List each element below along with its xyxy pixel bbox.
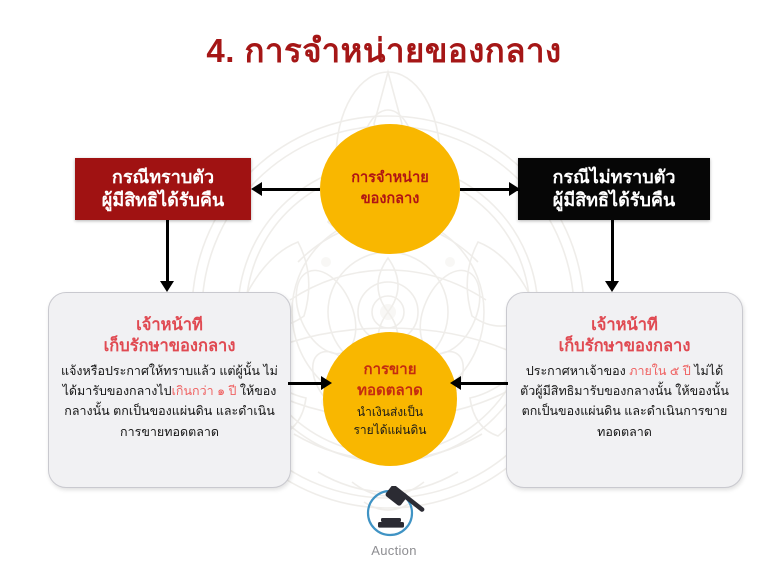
arrow-right-card-to-center-head — [450, 376, 461, 390]
node-branch-known-claimant: กรณีทราบตัว ผู้มีสิทธิได้รับคืน — [75, 158, 251, 220]
page-title: 4. การจำหน่ายของกลาง — [0, 31, 768, 71]
card-right-heading-line1: เจ้าหน้าที — [519, 315, 730, 336]
slide-canvas: 4. การจำหน่ายของกลาง การจำหน่าย ของกลาง … — [0, 0, 768, 576]
node-center-top-disposal: การจำหน่าย ของกลาง — [320, 124, 460, 254]
node-branch-known-line1: กรณีทราบตัว — [112, 166, 214, 189]
card-right-body: ประกาศหาเจ้าของ ภายใน ๕ ปี ไม่ได้ตัวผู้ม… — [519, 361, 730, 442]
arrow-top-to-left-line — [260, 188, 320, 191]
gavel-icon — [358, 486, 430, 542]
card-officer-custody-left: เจ้าหน้าที เก็บรักษาของกลาง แจ้งหรือประก… — [48, 292, 291, 488]
card-left-body: แจ้งหรือประกาศให้ทราบแล้ว แต่ผู้นั้น ไม่… — [61, 361, 278, 442]
node-center-bottom-line2: ทอดตลาด — [357, 380, 423, 401]
node-branch-known-line2: ผู้มีสิทธิได้รับคืน — [102, 189, 224, 212]
card-right-heading-line2: เก็บรักษาของกลาง — [519, 336, 730, 357]
arrow-left-card-to-center-head — [321, 376, 332, 390]
card-officer-custody-right: เจ้าหน้าที เก็บรักษาของกลาง ประกาศหาเจ้า… — [506, 292, 743, 488]
node-center-bottom-sub2: รายได้แผ่นดิน — [353, 422, 426, 439]
arrow-right-down-line — [611, 220, 614, 284]
card-right-body-highlight: ภายใน ๕ ปี — [629, 364, 691, 378]
node-branch-unknown-line2: ผู้มีสิทธิได้รับคืน — [553, 189, 675, 212]
arrow-top-to-left-head — [251, 182, 262, 196]
node-branch-unknown-line1: กรณีไม่ทราบตัว — [552, 166, 675, 189]
card-left-heading-line2: เก็บรักษาของกลาง — [61, 336, 278, 357]
arrow-left-down-head — [160, 281, 174, 292]
card-left-heading-line1: เจ้าหน้าที — [61, 315, 278, 336]
node-center-bottom-auction: การขาย ทอดตลาด นำเงินส่งเป็น รายได้แผ่นด… — [323, 332, 457, 466]
node-center-top-line1: การจำหน่าย — [351, 168, 428, 189]
arrow-top-to-right-head — [509, 182, 520, 196]
auction-label: Auction — [371, 543, 416, 558]
card-left-body-highlight: เกินกว่า ๑ ปี — [172, 384, 237, 398]
arrow-left-down-line — [166, 220, 169, 284]
arrow-right-card-to-center-line — [456, 382, 508, 385]
auction-badge: Auction — [348, 486, 440, 564]
arrow-right-down-head — [605, 281, 619, 292]
node-branch-unknown-claimant: กรณีไม่ทราบตัว ผู้มีสิทธิได้รับคืน — [518, 158, 710, 220]
node-center-bottom-line1: การขาย — [357, 359, 423, 380]
node-center-top-line2: ของกลาง — [351, 189, 428, 210]
card-right-body-part1: ประกาศหาเจ้าของ — [526, 364, 629, 378]
node-center-bottom-sub1: นำเงินส่งเป็น — [353, 404, 426, 421]
